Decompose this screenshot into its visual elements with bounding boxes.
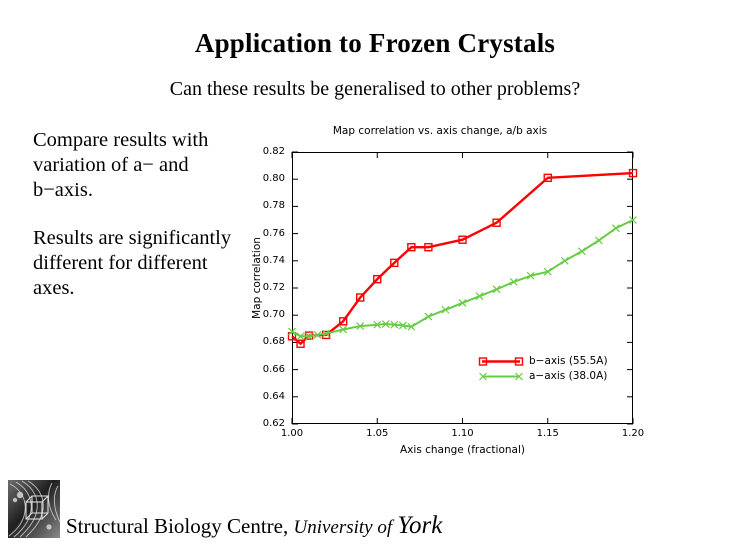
series-line — [292, 220, 633, 336]
bullet-text-block: Compare results with variation of a− and… — [33, 128, 248, 301]
footer-university: University of — [293, 517, 392, 538]
x-tick-label: 1.15 — [524, 429, 572, 439]
page-subtitle: Can these results be generalised to othe… — [0, 78, 750, 101]
chart-x-axis-label: Axis change (fractional) — [292, 444, 633, 456]
legend-swatch-icon — [478, 355, 524, 368]
y-tick-label: 0.80 — [233, 174, 285, 184]
y-tick-label: 0.82 — [233, 147, 285, 157]
chart-y-axis-label: Map correlation — [251, 198, 263, 358]
x-tick-label: 1.00 — [268, 429, 316, 439]
data-point-marker — [289, 328, 296, 335]
y-tick-label: 0.76 — [233, 229, 285, 239]
footer: Structural Biology Centre, University of… — [8, 480, 748, 542]
chart-title: Map correlation vs. axis change, a/b axi… — [230, 125, 650, 137]
footer-york: York — [397, 512, 442, 539]
bullet-paragraph-1: Compare results with variation of a− and… — [33, 128, 248, 203]
data-point-marker — [630, 217, 637, 224]
y-tick-label: 0.68 — [233, 337, 285, 347]
bullet-paragraph-2: Results are significantly different for … — [33, 226, 248, 301]
y-tick-label: 0.66 — [233, 365, 285, 375]
y-tick-label: 0.74 — [233, 256, 285, 266]
chart: Map correlation vs. axis change, a/b axi… — [230, 122, 650, 462]
x-tick-label: 1.10 — [439, 429, 487, 439]
series-layer — [289, 170, 637, 348]
legend-label: b−axis (55.5A) — [529, 354, 608, 369]
data-point-marker — [578, 248, 585, 255]
page-title: Application to Frozen Crystals — [0, 28, 750, 59]
y-tick-label: 0.64 — [233, 392, 285, 402]
y-tick-label: 0.72 — [233, 283, 285, 293]
footer-org: Structural Biology Centre, — [66, 514, 288, 538]
legend-item: b−axis (55.5A) — [478, 354, 608, 369]
legend-item: a−axis (38.0A) — [478, 369, 608, 384]
x-tick-label: 1.05 — [353, 429, 401, 439]
y-tick-label: 0.62 — [233, 419, 285, 429]
y-tick-label: 0.70 — [233, 310, 285, 320]
legend-swatch-icon — [478, 370, 524, 383]
y-tick-label: 0.78 — [233, 201, 285, 211]
data-point-marker — [561, 257, 568, 264]
data-point-marker — [595, 237, 602, 244]
sbc-logo-icon — [8, 480, 60, 538]
chart-legend: b−axis (55.5A)a−axis (38.0A) — [478, 354, 608, 384]
legend-label: a−axis (38.0A) — [529, 369, 607, 384]
series-a-axis — [289, 217, 637, 340]
series-b-axis — [289, 170, 637, 348]
data-point-marker — [612, 225, 619, 232]
footer-text: Structural Biology Centre, University of… — [66, 512, 442, 540]
x-tick-label: 1.20 — [609, 429, 657, 439]
